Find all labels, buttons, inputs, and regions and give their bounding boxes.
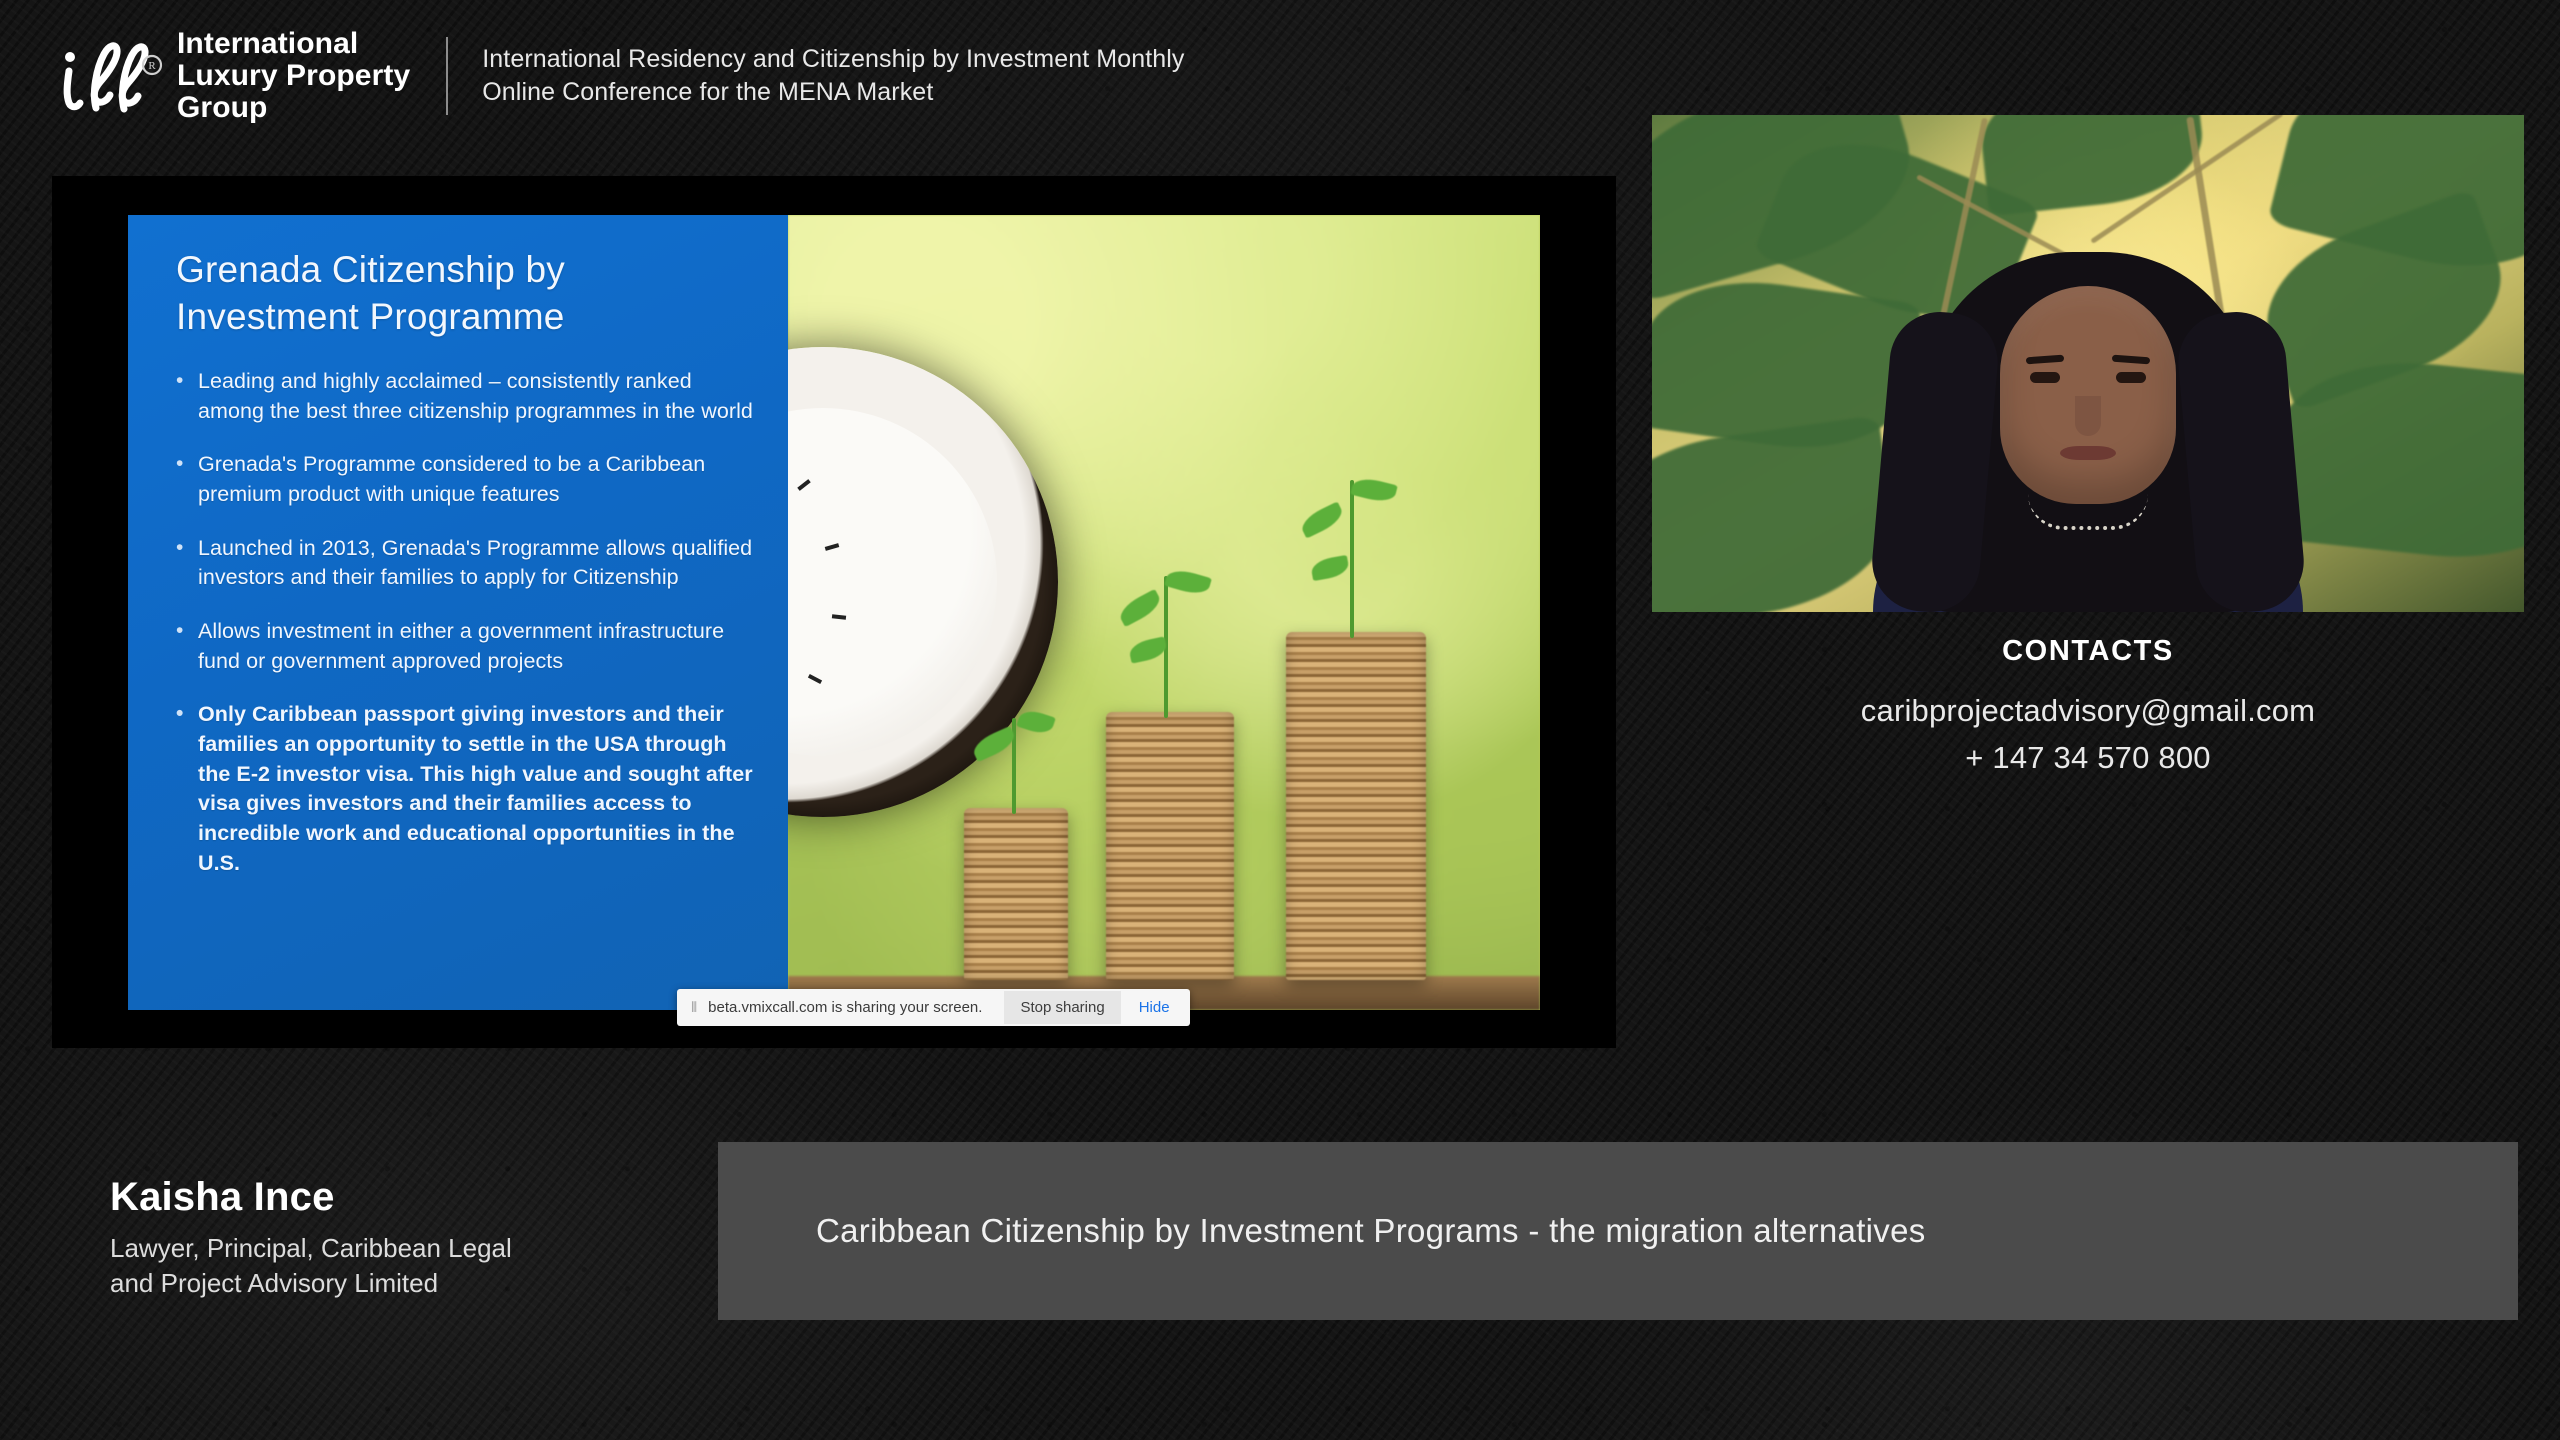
ilp-script-logo-icon: R (52, 35, 167, 117)
stop-sharing-button[interactable]: Stop sharing (1004, 991, 1120, 1024)
bullet-marker-icon: • (176, 367, 198, 426)
speaker-role: Lawyer, Principal, Caribbean Legal and P… (110, 1231, 710, 1301)
slide-photo: 1 2 3 4 5 (788, 215, 1540, 1010)
speaker-name: Kaisha Ince (110, 1175, 710, 1220)
brand-name: International Luxury Property Group (177, 28, 410, 123)
drag-handle-icon[interactable]: ⦀ (679, 999, 708, 1016)
coin-stack-large (1286, 632, 1426, 980)
slide-title: Grenada Citizenship by Investment Progra… (176, 247, 762, 341)
presentation-slide: Grenada Citizenship by Investment Progra… (128, 215, 1540, 1010)
contacts-block: CONTACTS caribprojectadvisory@gmail.com … (1652, 635, 2524, 781)
slide-bullet: • Allows investment in either a governme… (176, 617, 762, 676)
bullet-text: Allows investment in either a government… (198, 617, 762, 676)
bullet-text: Leading and highly acclaimed – consisten… (198, 367, 762, 426)
bullet-marker-icon: • (176, 700, 198, 878)
contacts-heading: CONTACTS (1652, 635, 2524, 668)
bullet-text: Only Caribbean passport giving investors… (198, 700, 762, 878)
session-title-text: Caribbean Citizenship by Investment Prog… (718, 1212, 1926, 1250)
speaker-face (2000, 286, 2176, 504)
screen-share-notification-bar[interactable]: ⦀ beta.vmixcall.com is sharing your scre… (677, 989, 1190, 1026)
hide-button[interactable]: Hide (1121, 999, 1188, 1016)
contact-email[interactable]: caribprojectadvisory@gmail.com (1652, 688, 2524, 735)
conference-title: International Residency and Citizenship … (482, 43, 1184, 109)
header: R International Luxury Property Group In… (52, 28, 1185, 123)
broadcast-stage: R International Luxury Property Group In… (0, 0, 2560, 1440)
clock-face: 1 2 3 4 5 (788, 408, 997, 756)
bullet-marker-icon: • (176, 534, 198, 593)
slide-text-column: Grenada Citizenship by Investment Progra… (128, 215, 788, 1010)
coin-stack-medium (1106, 712, 1234, 980)
necklace (2028, 494, 2148, 530)
session-title-banner: Caribbean Citizenship by Investment Prog… (718, 1142, 2518, 1320)
bullet-text: Launched in 2013, Grenada's Programme al… (198, 534, 762, 593)
seedling-stem (1350, 480, 1354, 638)
slide-bullet: • Leading and highly acclaimed – consist… (176, 367, 762, 426)
slide-bullet: • Launched in 2013, Grenada's Programme … (176, 534, 762, 593)
svg-text:R: R (148, 60, 156, 72)
slide-bullet-highlighted: • Only Caribbean passport giving investo… (176, 700, 762, 878)
bullet-marker-icon: • (176, 617, 198, 676)
screen-share-frame: Grenada Citizenship by Investment Progra… (52, 176, 1616, 1048)
coin-stack-small (964, 808, 1068, 980)
webcam-video-tile[interactable] (1652, 115, 2524, 612)
speaker-lower-third: Kaisha Ince Lawyer, Principal, Caribbean… (110, 1175, 710, 1301)
share-message: beta.vmixcall.com is sharing your screen… (708, 999, 1004, 1016)
bullet-marker-icon: • (176, 450, 198, 509)
header-divider (446, 37, 448, 115)
bullet-text: Grenada's Programme considered to be a C… (198, 450, 762, 509)
slide-bullet: • Grenada's Programme considered to be a… (176, 450, 762, 509)
contact-phone[interactable]: + 147 34 570 800 (1652, 735, 2524, 782)
